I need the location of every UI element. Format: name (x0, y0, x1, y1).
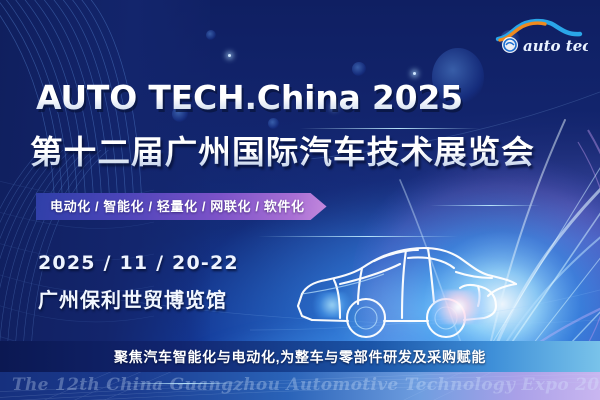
slogan-bar: 聚焦汽车智能化与电动化,为整车与零部件研发及采购赋能 (0, 341, 600, 372)
tagline-text: 电动化 / 智能化 / 轻量化 / 网联化 / 软件化 (36, 193, 327, 220)
horizontal-light-line-decoration (430, 205, 540, 206)
page-title: AUTO TECH.China 2025 (36, 78, 463, 117)
bokeh-circle-decoration (206, 30, 216, 40)
event-date: 2025 / 11 / 20-22 (38, 252, 239, 274)
sparkle-decoration (413, 72, 416, 75)
event-venue: 广州保利世贸博览馆 (38, 284, 227, 313)
bokeh-circle-decoration (352, 62, 366, 76)
slogan-text: 聚焦汽车智能化与电动化,为整车与零部件研发及采购赋能 (114, 347, 486, 367)
english-title-text: The 12th China Guangzhou Automotive Tech… (12, 375, 600, 395)
event-poster: auto tech AUTO TECH.China 2025 第十二届广州国际汽… (0, 0, 600, 400)
strip-light-line-decoration (120, 383, 240, 384)
auto-tech-logo[interactable]: auto tech (490, 12, 588, 60)
page-subtitle: 第十二届广州国际汽车技术展览会 (30, 127, 535, 173)
english-title-strip: The 12th China Guangzhou Automotive Tech… (0, 372, 600, 400)
car-headlight-glow (432, 290, 498, 324)
logo-text: auto tech (523, 37, 588, 55)
wireframe-sports-car-icon (288, 228, 594, 346)
sparkle-decoration (228, 54, 231, 57)
tagline-banner: 电动化 / 智能化 / 轻量化 / 网联化 / 软件化 (36, 193, 327, 220)
